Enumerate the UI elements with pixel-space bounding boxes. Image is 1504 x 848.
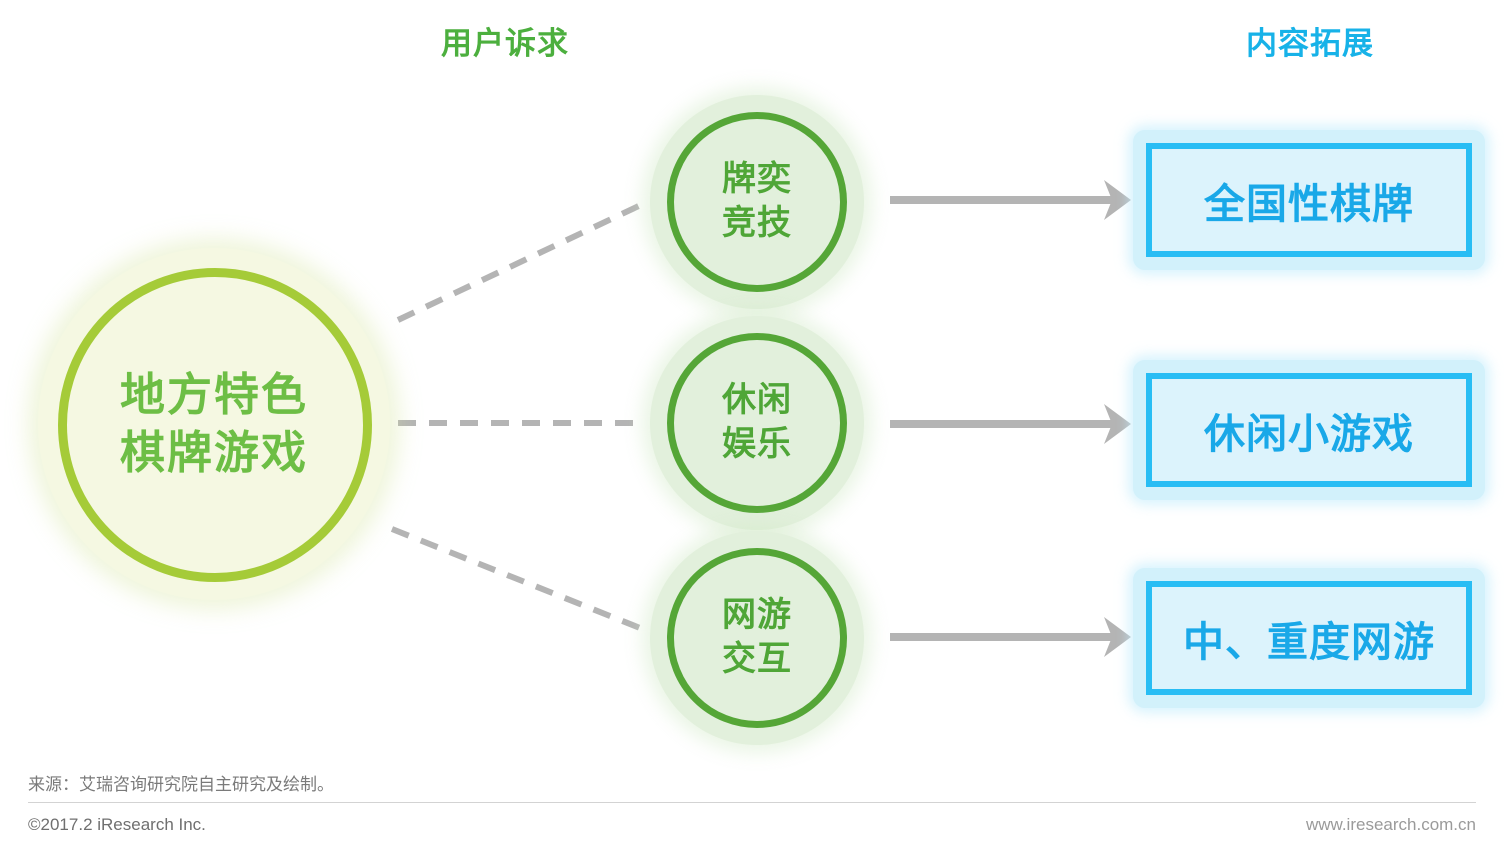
copyright-text: ©2017.2 iResearch Inc. xyxy=(28,815,206,835)
user-demand-node-online-interaction[interactable]: 网游 交互 xyxy=(650,531,864,745)
content-expansion-box-casual-mini-games[interactable]: 休闲小游戏 xyxy=(1133,360,1485,500)
dashed-connector-bottom xyxy=(392,529,645,630)
content-expansion-box-label: 全国性棋牌 xyxy=(1204,170,1414,230)
dashed-connector-top xyxy=(398,203,645,320)
user-demand-node-label: 牌奕 竞技 xyxy=(722,158,792,245)
user-demand-node-label: 网游 交互 xyxy=(722,594,792,681)
content-expansion-box-label: 休闲小游戏 xyxy=(1204,400,1414,460)
footer-divider xyxy=(28,802,1476,803)
user-demand-node-label: 休闲 娱乐 xyxy=(722,379,792,466)
arrow-top xyxy=(890,180,1131,220)
content-expansion-box-mid-heavy-online-games[interactable]: 中、重度网游 xyxy=(1133,568,1485,708)
column-header-user-demand: 用户诉求 xyxy=(0,18,1010,63)
source-note: 来源：艾瑞咨询研究院自主研究及绘制。 xyxy=(28,770,334,795)
user-demand-node-casual[interactable]: 休闲 娱乐 xyxy=(650,316,864,530)
arrow-bottom xyxy=(890,617,1131,657)
root-node-local-card-games[interactable]: 地方特色 棋牌游戏 xyxy=(38,248,390,600)
website-url: www.iresearch.com.cn xyxy=(1306,815,1476,835)
content-expansion-box-label: 中、重度网游 xyxy=(1183,608,1435,668)
user-demand-node-competitive[interactable]: 牌奕 竞技 xyxy=(650,95,864,309)
column-header-content-expansion: 内容拓展 xyxy=(1130,18,1490,63)
root-node-label: 地方特色 棋牌游戏 xyxy=(120,366,308,483)
arrow-middle xyxy=(890,404,1131,444)
content-expansion-box-national-card-games[interactable]: 全国性棋牌 xyxy=(1133,130,1485,270)
